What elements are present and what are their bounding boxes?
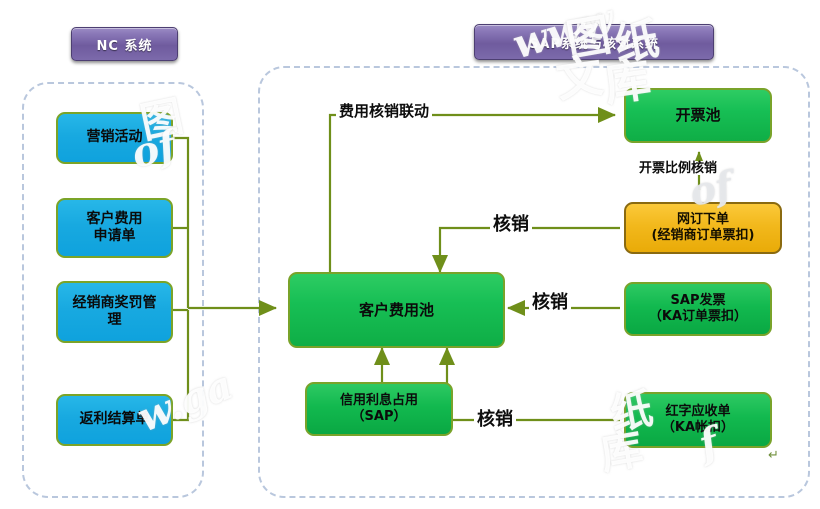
node-online-order-line2: (经销商订单票扣)	[652, 228, 755, 244]
node-red-receivable-line2: （KA帐扣）	[662, 420, 734, 436]
node-invoice-pool-label: 开票池	[675, 106, 720, 125]
node-marketing-activity[interactable]: 营销活动	[56, 112, 173, 164]
node-rebate-settlement-label: 返利结算单	[80, 411, 150, 429]
node-dealer-reward-management-line1: 经销商奖罚管	[73, 295, 157, 313]
nc-system-title-label: NC 系统	[97, 35, 153, 54]
edge-label-expense-linkage: 费用核销联动	[336, 104, 432, 119]
node-customer-expense-pool-label: 客户费用池	[359, 301, 434, 320]
node-red-receivable[interactable]: 红字应收单 （KA帐扣）	[624, 392, 772, 448]
node-rebate-settlement[interactable]: 返利结算单	[56, 394, 173, 446]
node-invoice-pool[interactable]: 开票池	[624, 88, 772, 143]
edge-label-writeoff-red-receivable: 核销	[474, 411, 516, 429]
edge-label-invoice-ratio: 开票比例核销	[636, 162, 720, 175]
node-sap-invoice[interactable]: SAP发票 （KA订单票扣）	[624, 282, 772, 336]
node-sap-invoice-line1: SAP发票	[671, 293, 726, 309]
nc-system-title: NC 系统	[71, 27, 178, 61]
node-customer-expense-pool[interactable]: 客户费用池	[288, 272, 505, 348]
edge-label-writeoff-sap-invoice: 核销	[529, 294, 571, 312]
node-customer-expense-request[interactable]: 客户费用 申请单	[56, 198, 173, 258]
diagram-canvas: NC 系统 SAP系统与核对系统	[0, 0, 820, 509]
node-sap-invoice-line2: （KA订单票扣）	[649, 309, 747, 325]
node-online-order-line1: 网订下单	[677, 212, 729, 228]
node-credit-interest-line1: 信用利息占用	[340, 393, 418, 409]
node-customer-expense-request-line2: 申请单	[94, 228, 136, 246]
node-red-receivable-line1: 红字应收单	[665, 404, 730, 420]
edge-label-writeoff-online-order-text: 核销	[493, 214, 529, 235]
edge-label-writeoff-online-order: 核销	[490, 216, 532, 234]
node-credit-interest[interactable]: 信用利息占用 （SAP）	[305, 382, 453, 436]
sap-system-title: SAP系统与核对系统	[474, 24, 714, 60]
node-dealer-reward-management-line2: 理	[108, 312, 122, 330]
edge-label-writeoff-red-receivable-text: 核销	[477, 409, 513, 430]
edge-label-invoice-ratio-text: 开票比例核销	[639, 161, 717, 176]
edge-label-expense-linkage-text: 费用核销联动	[339, 102, 429, 120]
sap-system-title-label: SAP系统与核对系统	[529, 33, 659, 52]
node-marketing-activity-label: 营销活动	[87, 129, 143, 147]
paragraph-mark-text: ↵	[768, 448, 779, 463]
node-customer-expense-request-line1: 客户费用	[87, 211, 143, 229]
node-online-order[interactable]: 网订下单 (经销商订单票扣)	[624, 202, 782, 254]
node-credit-interest-line2: （SAP）	[352, 409, 407, 425]
edge-label-writeoff-sap-invoice-text: 核销	[532, 292, 568, 313]
node-dealer-reward-management[interactable]: 经销商奖罚管 理	[56, 281, 173, 343]
paragraph-mark: ↵	[768, 448, 779, 463]
